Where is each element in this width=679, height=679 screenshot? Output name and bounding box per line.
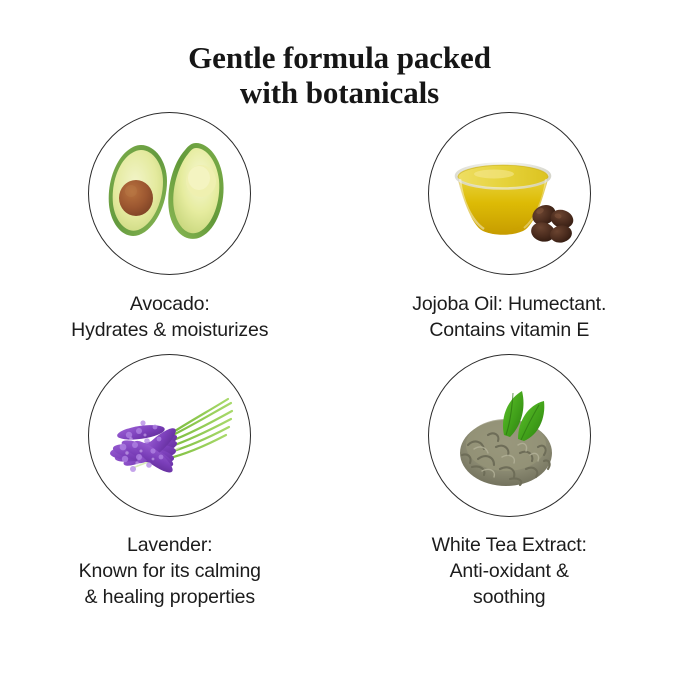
ingredient-row-1: Avocado: Hydrates & moisturizes — [0, 112, 679, 343]
avocado-half-right — [168, 143, 223, 239]
ingredients-infographic: Gentle formula packed with botanicals — [0, 0, 679, 679]
avocado-caption: Avocado: Hydrates & moisturizes — [71, 291, 268, 343]
ingredient-grid: Avocado: Hydrates & moisturizes — [0, 112, 679, 610]
ingredient-item-jojoba-oil: Jojoba Oil: Humectant. Contains vitamin … — [340, 112, 679, 343]
page-title: Gentle formula packed with botanicals — [0, 40, 679, 110]
avocado-circle-frame — [88, 112, 251, 275]
ingredient-item-lavender: Lavender: Known for its calming & healin… — [0, 354, 340, 610]
ingredient-row-2: Lavender: Known for its calming & healin… — [0, 343, 679, 610]
ingredient-item-white-tea-extract: White Tea Extract: Anti-oxidant & soothi… — [340, 354, 679, 610]
jojoba-oil-bowl-icon — [434, 119, 584, 269]
title-line-1: Gentle formula packed — [0, 40, 679, 75]
jojoba-oil-caption: Jojoba Oil: Humectant. Contains vitamin … — [412, 291, 606, 343]
avocado-halves-icon — [95, 119, 245, 269]
avocado-half-left — [108, 145, 166, 236]
lavender-bouquet-icon — [95, 361, 245, 511]
lavender-caption: Lavender: Known for its calming & healin… — [79, 532, 261, 610]
lavender-flowers — [109, 422, 180, 476]
jojoba-oil-circle-frame — [428, 112, 591, 275]
lavender-circle-frame — [88, 354, 251, 517]
white-tea-caption: White Tea Extract: Anti-oxidant & soothi… — [432, 532, 587, 610]
title-line-2: with botanicals — [0, 75, 679, 110]
white-tea-leaves-icon — [434, 361, 584, 511]
white-tea-circle-frame — [428, 354, 591, 517]
ingredient-item-avocado: Avocado: Hydrates & moisturizes — [0, 112, 340, 343]
